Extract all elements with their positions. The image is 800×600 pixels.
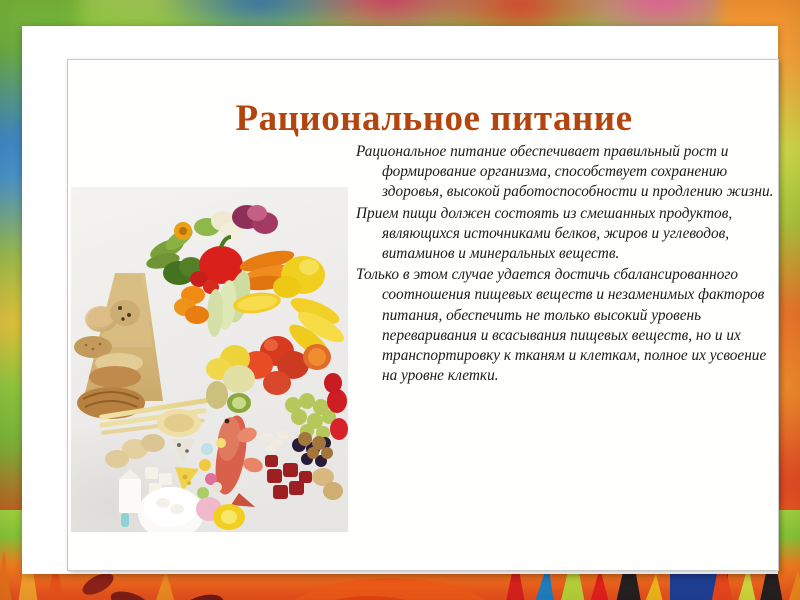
slide-paper: Рациональное питание — [22, 26, 778, 574]
food-pyramid-photo — [71, 187, 348, 532]
paragraph-2: Прием пищи должен состоять из смешанных … — [356, 204, 776, 265]
slide-body-text: Рациональное питание обеспечивает правил… — [356, 142, 776, 387]
paragraph-1: Рациональное питание обеспечивает правил… — [356, 142, 776, 203]
food-pyramid-illustration — [71, 187, 348, 532]
paragraph-3: Только в этом случае удается достичь сба… — [356, 265, 776, 386]
photo-canvas — [71, 187, 348, 532]
presentation-slide[interactable]: Рациональное питание — [67, 59, 779, 571]
page-title: Рациональное питание — [114, 97, 754, 141]
